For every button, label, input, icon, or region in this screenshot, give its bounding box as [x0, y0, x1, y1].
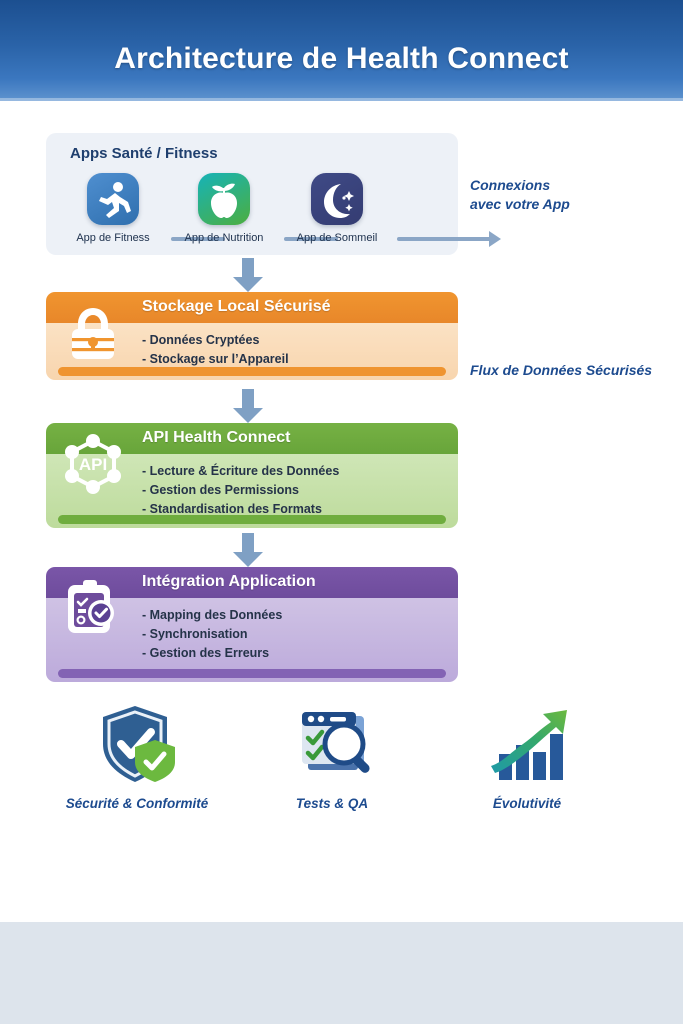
window-magnifier-checks-icon	[286, 700, 378, 788]
api-icon-text: API	[79, 455, 107, 474]
bullet-item: - Gestion des Permissions	[142, 481, 339, 500]
bullet-item: - Gestion des Erreurs	[142, 644, 282, 663]
bullet-item: - Lecture & Écriture des Données	[142, 462, 339, 481]
layer-bullets-integration: - Mapping des Données - Synchronisation …	[142, 606, 282, 663]
feature-tests-qa[interactable]: Tests & QA	[232, 700, 432, 811]
apps-section-title: Apps Santé / Fitness	[70, 145, 218, 162]
page-header: Architecture de Health Connect	[0, 0, 683, 101]
layer-card-stockage-local-securise[interactable]: Stockage Local Sécurisé - Données Crypté…	[46, 292, 458, 380]
infographic-page: Architecture de Health Connect Apps Sant…	[0, 0, 683, 1024]
apple-icon	[198, 173, 250, 225]
down-arrow-icon-2	[233, 389, 263, 423]
page-title: Architecture de Health Connect	[0, 42, 683, 76]
app-item-fitness[interactable]: App de Fitness	[58, 173, 168, 244]
bullet-item: - Données Cryptées	[142, 331, 289, 350]
annotation-flux: Flux de Données Sécurisés	[470, 361, 652, 380]
layer-card-api-health-connect[interactable]: API Health Connect - Lecture & Écriture …	[46, 423, 458, 528]
connector-arrowhead-icon	[489, 231, 501, 247]
connector-line-3	[397, 237, 495, 241]
features-row: Sécurité & Conformité Tests & QA	[0, 700, 683, 840]
layer-title-api: API Health Connect	[142, 429, 290, 447]
apps-section-card: Apps Santé / Fitness App de Fitness	[46, 133, 458, 255]
down-arrow-icon-3	[233, 533, 263, 567]
bullet-item: - Synchronisation	[142, 625, 282, 644]
growth-chart-arrow-icon	[481, 700, 573, 788]
feature-label-tests: Tests & QA	[232, 796, 432, 811]
layer-title-storage: Stockage Local Sécurisé	[142, 298, 331, 316]
app-label-sleep: App de Sommeil	[282, 232, 392, 244]
crescent-moon-icon	[311, 173, 363, 225]
clipboard-checklist-icon	[60, 575, 126, 641]
down-arrow-icon-1	[233, 258, 263, 292]
app-item-sleep[interactable]: App de Sommeil	[282, 173, 392, 244]
app-label-fitness: App de Fitness	[58, 232, 168, 244]
annotation-connexions-line1: Connexions	[470, 176, 570, 195]
running-person-icon	[87, 173, 139, 225]
footer-band	[0, 922, 683, 1024]
shield-check-icon	[91, 700, 183, 788]
feature-securite-conformite[interactable]: Sécurité & Conformité	[37, 700, 237, 811]
layer-bullets-storage: - Données Cryptées - Stockage sur l’Appa…	[142, 331, 289, 369]
feature-label-evolutivite: Évolutivité	[427, 796, 627, 811]
layer-footbar-integration	[58, 669, 446, 678]
layer-footbar-storage	[58, 367, 446, 376]
annotation-connexions: Connexions avec votre App	[470, 176, 570, 214]
app-label-nutrition: App de Nutrition	[169, 232, 279, 244]
layer-bullets-api: - Lecture & Écriture des Données - Gesti…	[142, 462, 339, 519]
annotation-connexions-line2: avec votre App	[470, 195, 570, 214]
layer-footbar-api	[58, 515, 446, 524]
feature-evolutivite[interactable]: Évolutivité	[427, 700, 627, 811]
layer-card-integration-application[interactable]: Intégration Application - Mapping des Do…	[46, 567, 458, 682]
bullet-item: - Mapping des Données	[142, 606, 282, 625]
padlock-icon	[60, 300, 126, 366]
api-hexagon-node-icon: API	[60, 431, 126, 497]
apps-row: App de Fitness App de Nutrition	[46, 173, 458, 253]
app-item-nutrition[interactable]: App de Nutrition	[169, 173, 279, 244]
feature-label-securite: Sécurité & Conformité	[37, 796, 237, 811]
layer-title-integration: Intégration Application	[142, 573, 316, 591]
